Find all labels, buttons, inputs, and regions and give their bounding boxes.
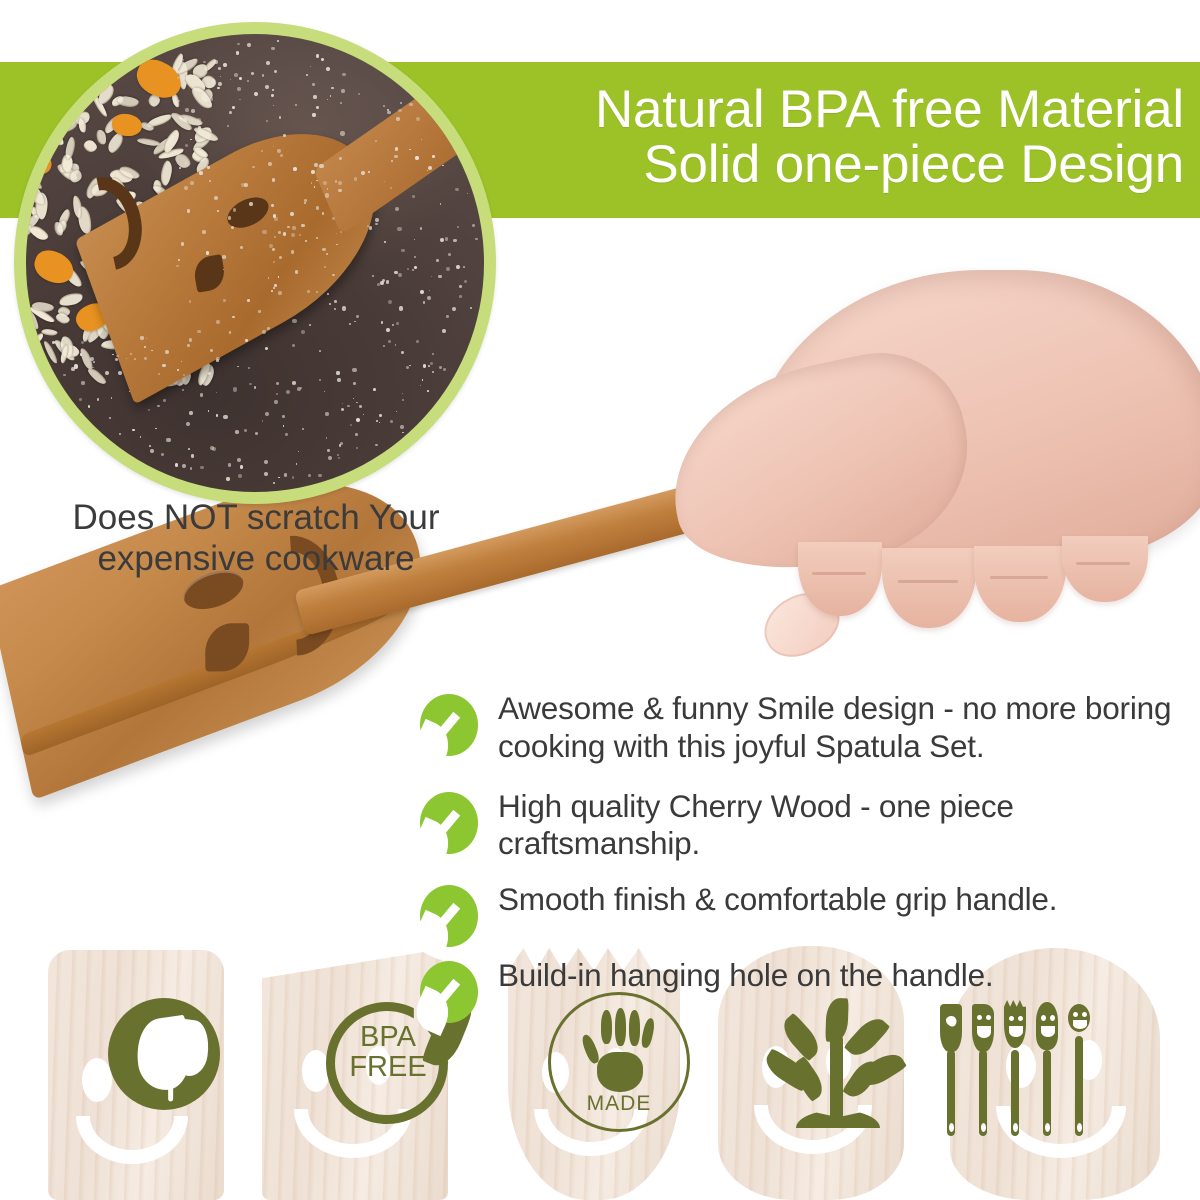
feature-item: High quality Cherry Wood - one piece cra…: [420, 788, 1190, 864]
check-icon: [420, 694, 478, 756]
feature-list: Awesome & funny Smile design - no more b…: [420, 690, 1190, 1037]
feature-text: Build-in hanging hole on the handle.: [498, 957, 993, 995]
inset-caption-line-2: expensive cookware: [10, 539, 502, 580]
leaf-shape-secondary: [171, 1018, 212, 1078]
feature-text: Smooth finish & comfortable grip handle.: [498, 881, 1057, 919]
feature-text: High quality Cherry Wood - one piece cra…: [498, 788, 1190, 864]
handmade-label: MADE: [548, 1092, 690, 1116]
finger-4: [1062, 536, 1148, 602]
feature-item: Awesome & funny Smile design - no more b…: [420, 690, 1190, 766]
feature-item: Build-in hanging hole on the handle.: [420, 957, 1190, 1023]
tree-trunk: [830, 1036, 843, 1120]
leaf-stem: [168, 1079, 173, 1101]
inset-caption-line-1: Does NOT scratch Your: [10, 498, 502, 539]
leaf-icon: [108, 998, 220, 1110]
finger-3: [974, 546, 1066, 622]
leaf-shape: [132, 1015, 195, 1094]
hand: [630, 270, 1200, 660]
bpa-line-2: FREE: [340, 1052, 436, 1082]
inset-photo-circle: [14, 22, 496, 504]
inset-caption: Does NOT scratch Your expensive cookware: [10, 498, 502, 579]
feature-text: Awesome & funny Smile design - no more b…: [498, 690, 1190, 766]
check-icon: [420, 792, 478, 854]
feature-item: Smooth finish & comfortable grip handle.: [420, 881, 1190, 947]
check-icon: [420, 961, 478, 1023]
finger-2: [882, 548, 976, 628]
pan-photo: [26, 34, 484, 492]
check-icon: [420, 885, 478, 947]
